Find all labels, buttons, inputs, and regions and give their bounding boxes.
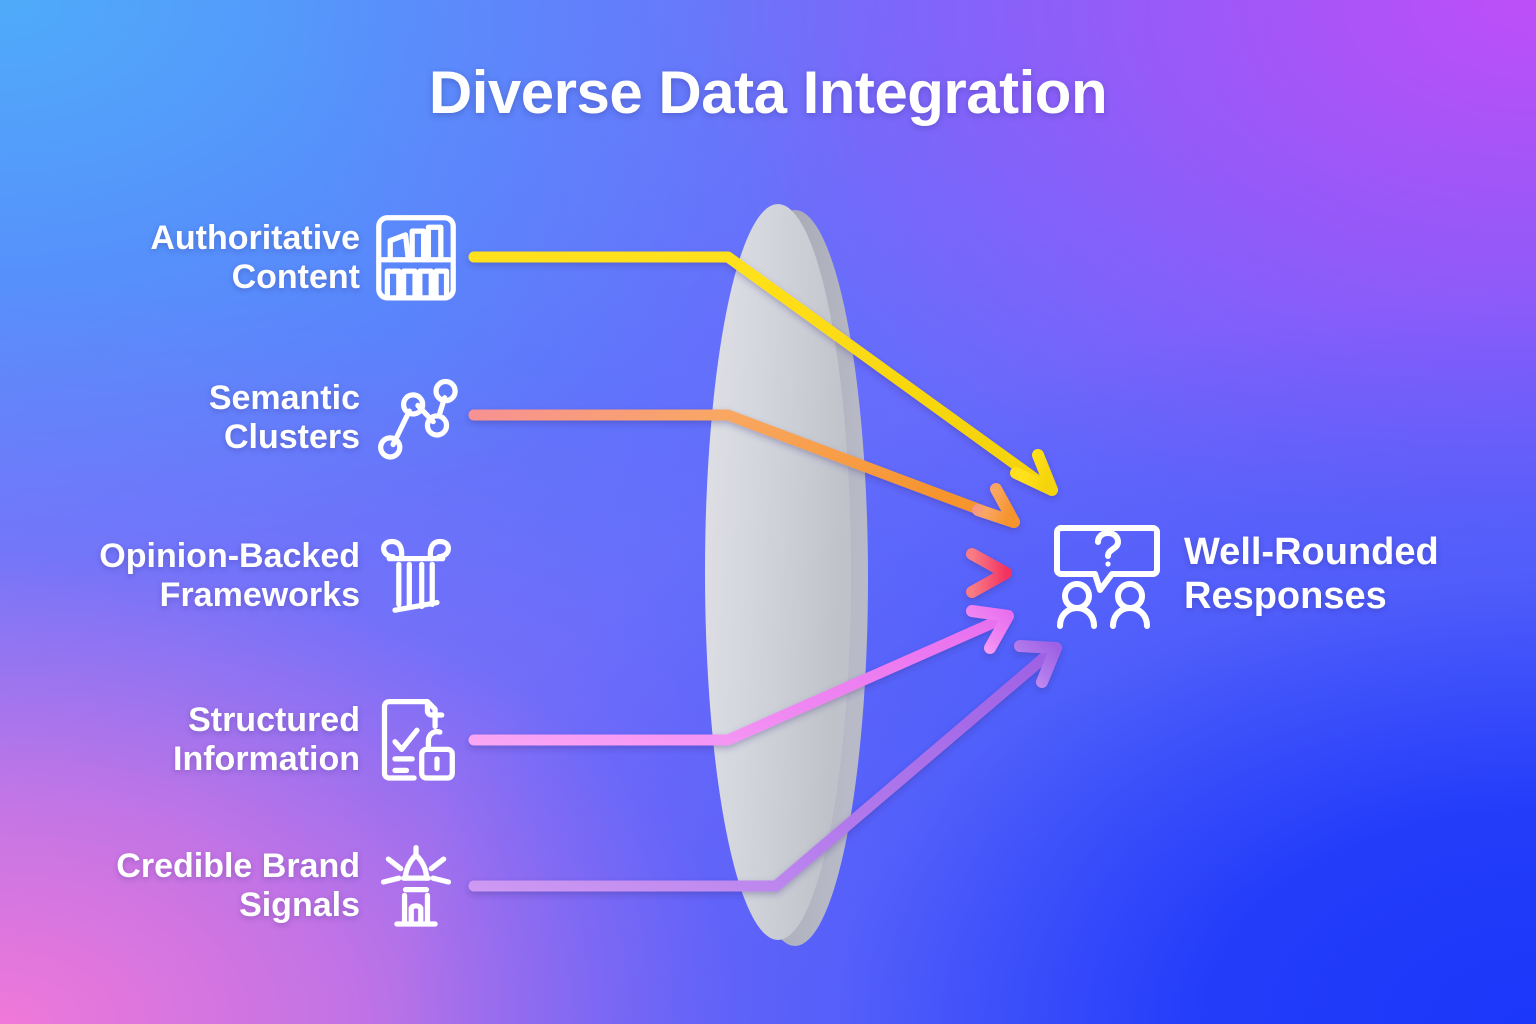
source-row-opinion-backed-frameworks[interactable]: Opinion-Backed Frameworks	[18, 530, 458, 622]
flow-line-authoritative-content	[474, 257, 1048, 488]
flow-line-structured-information	[474, 618, 1004, 740]
source-row-credible-brand-signals[interactable]: Credible Brand Signals	[18, 840, 458, 932]
source-row-authoritative-content[interactable]: Authoritative Content	[18, 212, 458, 304]
source-label-semantic-clusters: Semantic Clusters	[209, 379, 360, 458]
flow-line-credible-brand-signals	[474, 651, 1052, 886]
node-graph-icon	[374, 372, 458, 464]
flow-arrowhead-semantic-clusters	[978, 489, 1014, 522]
source-label-credible-brand-signals: Credible Brand Signals	[116, 847, 360, 926]
source-label-authoritative-content: Authoritative Content	[150, 219, 360, 298]
question-speech-people-icon	[1048, 516, 1166, 634]
column-pillar-icon	[374, 530, 458, 622]
flow-line-semantic-clusters	[474, 415, 1010, 521]
target-group[interactable]: Well-Rounded Responses	[1048, 516, 1439, 634]
source-label-opinion-backed-frameworks: Opinion-Backed Frameworks	[99, 537, 360, 616]
lighthouse-icon	[374, 840, 458, 932]
document-lock-icon	[374, 694, 458, 786]
source-label-structured-information: Structured Information	[173, 701, 360, 780]
diagram-canvas: Diverse Data Integration Authoritative C…	[0, 0, 1536, 1024]
page-title: Diverse Data Integration	[0, 58, 1536, 127]
target-label: Well-Rounded Responses	[1184, 531, 1439, 618]
bookshelf-icon	[374, 212, 458, 304]
source-row-structured-information[interactable]: Structured Information	[18, 694, 458, 786]
source-row-semantic-clusters[interactable]: Semantic Clusters	[18, 372, 458, 464]
